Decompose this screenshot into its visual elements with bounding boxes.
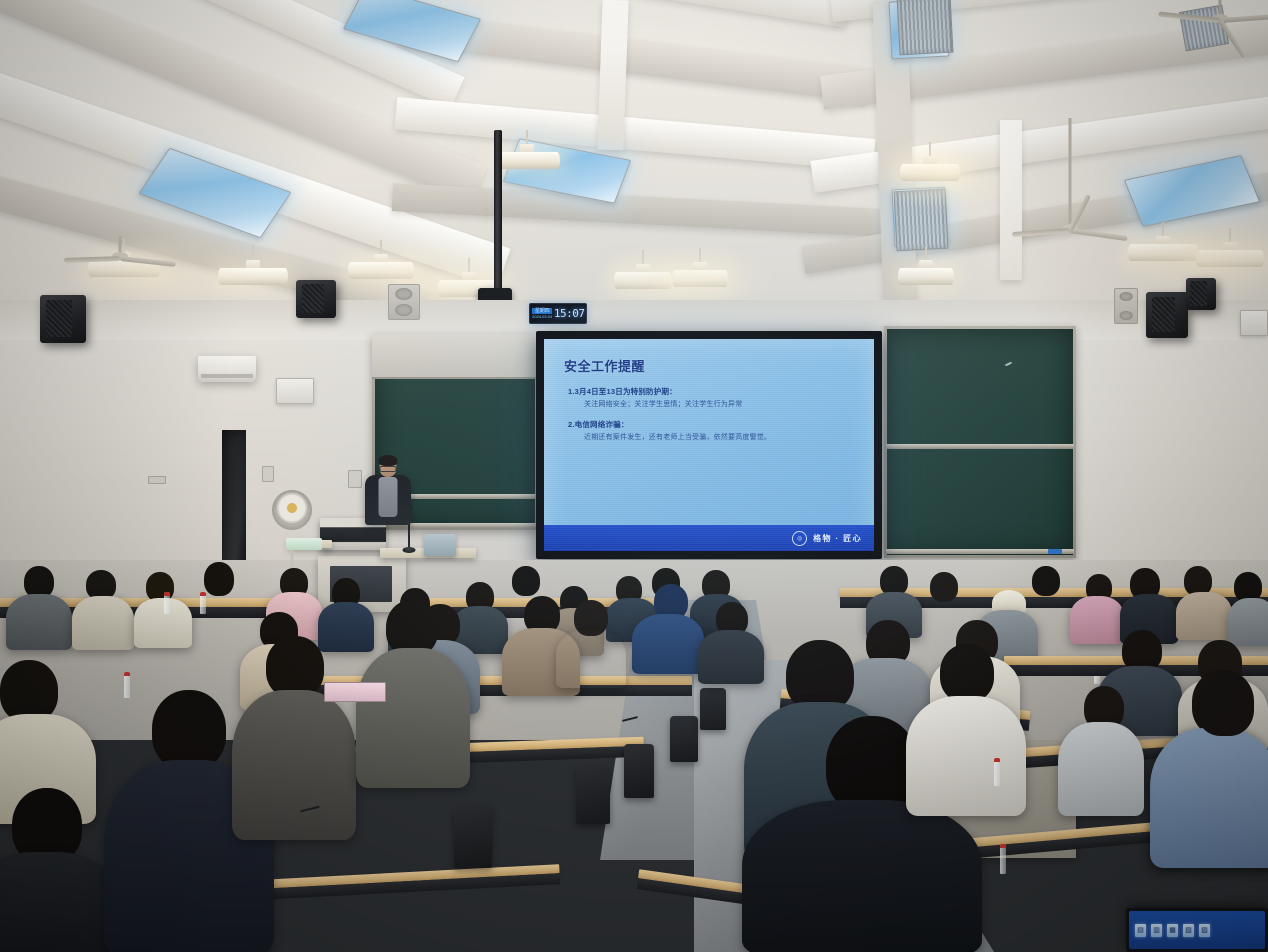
audience-torso	[356, 648, 470, 788]
desk-row	[260, 864, 561, 906]
ceiling-vent	[897, 0, 954, 55]
slide-footer: ◎ 格物 · 匠心	[544, 525, 874, 551]
wall-vent-grille	[388, 284, 420, 320]
av-control-panel[interactable]: ▤ ▥ ▦ ▧ ▨	[1126, 908, 1268, 952]
water-bottle	[200, 592, 206, 614]
slide-body: 1.3月4日至13日为特别防护期： 关注网络安全；关注学生思情；关注学生行为异常…	[568, 386, 860, 452]
seat-back	[670, 716, 698, 762]
audience-torso	[632, 614, 704, 674]
doorway	[222, 430, 246, 580]
ceiling-panel-light	[1124, 155, 1260, 227]
wall-control-box	[276, 378, 314, 404]
fan-blade	[120, 256, 176, 267]
ceiling-soffit	[597, 0, 628, 150]
chalkboard-right	[884, 326, 1076, 558]
seat-back	[624, 744, 654, 798]
slide-bullet-sub: 近期还有案件发生，还有老师上当受骗，依然要高度警觉。	[568, 432, 860, 443]
audience-torso	[134, 598, 192, 648]
water-bottle	[164, 592, 170, 614]
audience-torso	[72, 596, 134, 650]
seat-back	[700, 688, 726, 730]
glasses-icon	[380, 466, 397, 472]
audience-head	[266, 636, 324, 698]
water-bottle	[994, 758, 1000, 786]
fan-blade	[1220, 14, 1268, 23]
audience-torso	[1176, 592, 1232, 640]
wall-speaker	[296, 280, 336, 318]
ceiling-fan	[1150, 0, 1268, 64]
chalk-rail	[886, 444, 1074, 449]
slide-bullet: 2.电信网络诈骗： 近期还有案件发生，还有老师上当受骗，依然要高度警觉。	[568, 419, 860, 443]
wall-outlet	[148, 476, 166, 484]
projector-mount-pole	[494, 130, 502, 292]
wall-speaker	[1186, 278, 1216, 310]
audience-torso	[906, 696, 1026, 816]
audience-torso	[6, 594, 72, 650]
av-control-screen[interactable]: ▤ ▥ ▦ ▧ ▨	[1129, 911, 1265, 949]
ceiling-fan	[1010, 118, 1130, 248]
lecture-hall-photo: 星期四 2024.03.04 15:07	[0, 0, 1268, 952]
ceiling	[0, 0, 1268, 330]
open-laptop[interactable]	[324, 682, 386, 702]
audience-torso	[1150, 728, 1268, 868]
fan-blade	[1218, 19, 1247, 58]
wall-clock-display: 星期四 2024.03.04 15:07	[529, 303, 587, 324]
audience-head	[1032, 566, 1060, 596]
presenter-shirt	[379, 477, 398, 517]
fan-blade	[1158, 12, 1220, 23]
chalk-mark	[1005, 362, 1012, 367]
fan-blade	[1012, 228, 1070, 237]
stage-chair	[424, 534, 456, 556]
panel-icon[interactable]: ▨	[1199, 924, 1210, 937]
audience-torso	[556, 630, 626, 688]
panel-icon[interactable]: ▤	[1135, 924, 1146, 937]
supply-tray	[286, 538, 322, 550]
audience-head	[930, 572, 958, 602]
wall-box	[1240, 310, 1268, 336]
wall-outlet	[262, 466, 274, 482]
ceiling-beam	[392, 183, 883, 237]
slide-bullet-sub: 关注网络安全；关注学生思情；关注学生行为异常	[568, 399, 860, 410]
audience-head	[152, 690, 226, 770]
panel-icon[interactable]: ▥	[1151, 924, 1162, 937]
audience-head	[0, 660, 58, 722]
ceiling-vent	[893, 189, 948, 252]
presenter-hair	[379, 455, 398, 466]
circle-emblem-icon: ◎	[792, 531, 807, 546]
audience-head	[512, 566, 540, 596]
fan-blade	[64, 256, 120, 263]
water-bottle	[124, 672, 130, 698]
slide-footer-logo-text: 格物 · 匠心	[813, 533, 862, 544]
clock-time: 15:07	[552, 307, 586, 320]
chalkboard-upper-panel	[372, 334, 538, 379]
fan-blade	[1070, 228, 1128, 241]
slide-title: 安全工作提醒	[564, 356, 645, 375]
audience-head	[204, 562, 234, 596]
audience-torso	[0, 852, 120, 952]
audience-torso	[1058, 722, 1144, 816]
slide-bullet: 1.3月4日至13日为特别防护期： 关注网络安全；关注学生思情；关注学生行为异常	[568, 386, 860, 410]
audience-torso	[742, 800, 982, 952]
slide-bullet-heading: 1.3月4日至13日为特别防护期：	[568, 386, 860, 397]
audience-torso	[698, 630, 764, 684]
audience-torso	[232, 690, 356, 840]
audience-head	[1196, 674, 1254, 736]
audience-torso	[318, 602, 374, 652]
wall-speaker	[40, 295, 86, 343]
audience-head	[940, 644, 994, 702]
clock-date-label: 2024.03.04	[532, 314, 552, 319]
seat-back	[454, 806, 492, 868]
projection-screen[interactable]: 安全工作提醒 1.3月4日至13日为特别防护期： 关注网络安全；关注学生思情；关…	[536, 331, 882, 559]
audience-torso	[1070, 596, 1124, 644]
wall-speaker	[1146, 292, 1188, 338]
seat-back	[576, 766, 610, 824]
wall-vent-grille	[1114, 288, 1138, 324]
slide-bullet-heading: 2.电信网络诈骗：	[568, 419, 860, 430]
panel-icon[interactable]: ▧	[1183, 924, 1194, 937]
eraser	[1048, 549, 1062, 554]
presenter-at-podium	[360, 457, 416, 535]
presentation-slide: 安全工作提醒 1.3月4日至13日为特别防护期： 关注网络安全；关注学生思情；关…	[544, 339, 874, 551]
chalk-rail	[886, 549, 1074, 554]
ceiling-fan	[60, 236, 180, 296]
panel-icon[interactable]: ▦	[1167, 924, 1178, 937]
chalkboard-surface	[887, 329, 1073, 555]
audience-torso	[1228, 598, 1268, 646]
air-conditioner	[198, 356, 256, 382]
water-bottle	[1000, 844, 1006, 874]
